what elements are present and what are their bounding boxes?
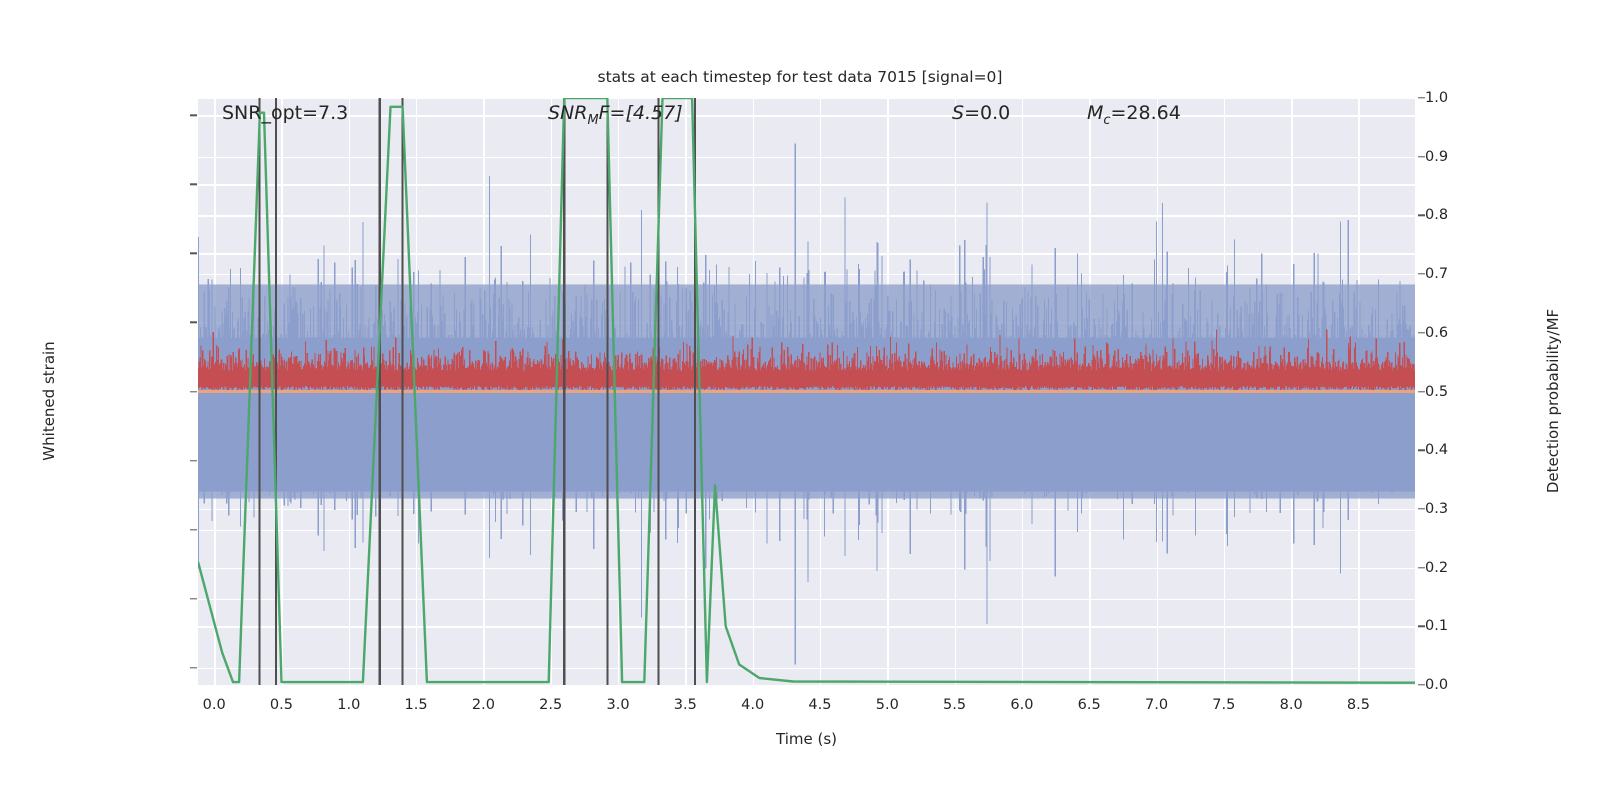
x-axis-tick-label: 8.0	[1280, 697, 1303, 713]
annotation-s-prefix: S	[952, 102, 964, 124]
annotation-mc-prefix: M	[1087, 102, 1103, 124]
y-axis-left-tick-mark	[190, 391, 197, 392]
annotation-mc-sub: c	[1103, 113, 1110, 128]
y-axis-left-tick-mark	[190, 667, 197, 668]
x-axis-tick-label: 3.5	[674, 697, 697, 713]
x-axis-tick-label: 0.0	[203, 697, 226, 713]
x-axis-tick-label: 8.5	[1347, 697, 1370, 713]
x-axis-tick-label: 0.5	[270, 697, 293, 713]
x-axis-tick-label: 6.5	[1078, 697, 1101, 713]
annotation-snr-mf-prefix: SNR	[548, 102, 587, 124]
page-title: stats at each timestep for test data 701…	[0, 68, 1600, 86]
x-axis-tick-label: 6.0	[1010, 697, 1033, 713]
y-axis-left-tick-mark	[190, 598, 197, 599]
x-axis-tick-label: 7.0	[1145, 697, 1168, 713]
annotation-snr-mf: SNRMF=[4.57]	[548, 102, 683, 128]
y-axis-right-tick-label: 0.8	[1425, 207, 1448, 223]
x-axis-tick-label: 2.0	[472, 697, 495, 713]
y-axis-right-tick-mark	[1418, 626, 1425, 627]
y-axis-right-tick-label: 0.5	[1425, 384, 1448, 400]
y-axis-right-tick-label: 0.4	[1425, 442, 1448, 458]
y-axis-right-tick-mark	[1418, 273, 1425, 274]
y-axis-right-tick-mark	[1418, 508, 1425, 509]
annotation-s-value: S=0.0	[952, 102, 1010, 124]
y-axis-right-tick-mark	[1418, 567, 1425, 568]
annotation-snr-mf-sub: M	[587, 113, 598, 128]
y-axis-right-tick-label: 0.3	[1425, 501, 1448, 517]
y-axis-right-tick-mark	[1418, 449, 1425, 450]
y-axis-right-tick-label: 0.6	[1425, 325, 1448, 341]
y-axis-right-tick-label: 0.1	[1425, 618, 1448, 634]
annotation-s-suffix: =0.0	[964, 102, 1010, 124]
x-axis-tick-label: 5.5	[943, 697, 966, 713]
annotation-layer: SNR_opt=7.3 SNRMF=[4.57] S=0.0 Mc=28.64	[198, 98, 1415, 685]
y-axis-left-tick-mark	[190, 253, 197, 254]
y-axis-left-label: Whitened strain	[40, 251, 58, 551]
x-axis-tick-label: 1.5	[405, 697, 428, 713]
annotation-mc-suffix: =28.64	[1111, 102, 1181, 124]
x-axis-tick-label: 4.5	[808, 697, 831, 713]
y-axis-right-tick-label: 0.0	[1425, 677, 1448, 693]
y-axis-right-tick-label: 0.7	[1425, 266, 1448, 282]
y-axis-right-tick-mark	[1418, 156, 1425, 157]
y-axis-right-tick-mark	[1418, 684, 1425, 685]
x-axis-tick-label: 2.5	[539, 697, 562, 713]
y-axis-right-tick-mark	[1418, 215, 1425, 216]
figure: stats at each timestep for test data 701…	[0, 0, 1600, 800]
annotation-snr-mf-suffix: F=[4.57]	[599, 102, 683, 124]
plot-area: SNR_opt=7.3 SNRMF=[4.57] S=0.0 Mc=28.64 …	[198, 98, 1415, 685]
y-axis-left-tick-mark	[190, 460, 197, 461]
y-axis-left-tick-mark	[190, 184, 197, 185]
x-axis-tick-label: 4.0	[741, 697, 764, 713]
y-axis-left-tick-mark	[190, 529, 197, 530]
x-axis-tick-label: 3.0	[606, 697, 629, 713]
x-axis-tick-label: 5.0	[876, 697, 899, 713]
y-axis-right-label: Detection probability/MF	[1544, 191, 1562, 611]
annotation-mchirp: Mc=28.64	[1087, 102, 1181, 128]
annotation-snr-opt: SNR_opt=7.3	[222, 102, 348, 124]
y-axis-left-tick-mark	[190, 115, 197, 116]
y-axis-left-tick-mark	[190, 322, 197, 323]
y-axis-right-tick-label: 0.2	[1425, 560, 1448, 576]
x-axis-label: Time (s)	[198, 730, 1415, 748]
x-axis-tick-label: 1.0	[337, 697, 360, 713]
y-axis-right-tick-mark	[1418, 97, 1425, 98]
y-axis-right-tick-label: 1.0	[1425, 90, 1448, 106]
y-axis-right-tick-mark	[1418, 332, 1425, 333]
y-axis-right-tick-mark	[1418, 391, 1425, 392]
y-axis-right-tick-label: 0.9	[1425, 149, 1448, 165]
x-axis-tick-label: 7.5	[1212, 697, 1235, 713]
